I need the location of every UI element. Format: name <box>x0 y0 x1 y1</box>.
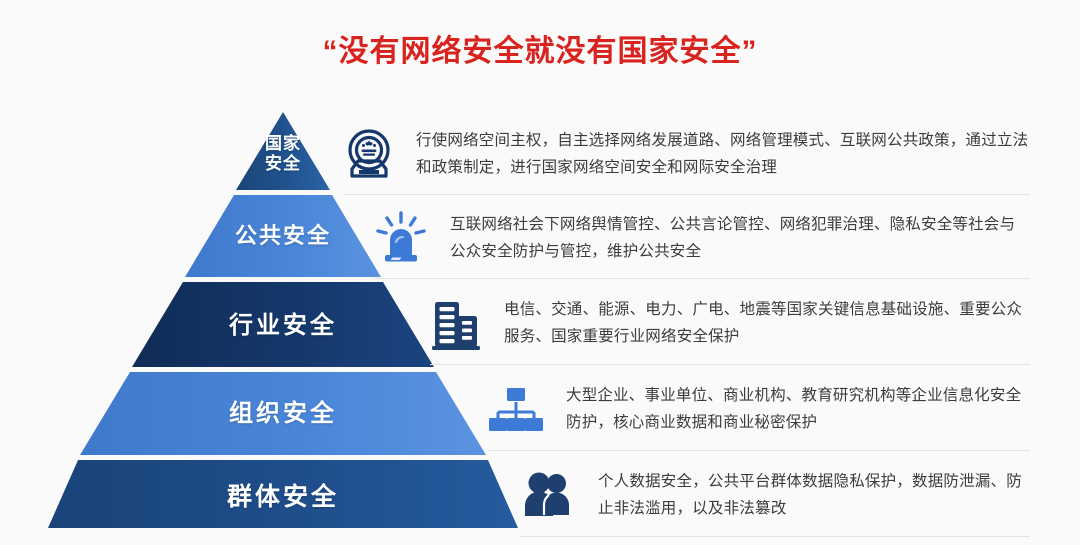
office-buildings-icon <box>430 296 482 352</box>
description-row-industry-security: 电信、交通、能源、电力、广电、地震等国家关键信息基础设施、重要公众服务、国家重要… <box>430 284 1030 364</box>
row-separator <box>488 450 1030 451</box>
description-row-public-security: 互联网络社会下网络舆情管控、公共言论管控、网络犯罪治理、隐私安全等社会与公众安全… <box>374 200 1030 278</box>
national-emblem-icon <box>344 128 394 182</box>
description-text-industry-security: 电信、交通、能源、电力、广电、地震等国家关键信息基础设施、重要公众服务、国家重要… <box>504 297 1030 350</box>
page-title: “没有网络安全就没有国家安全” <box>0 26 1080 70</box>
description-text-national-security: 行使网络空间主权，自主选择网络发展道路、网络管理模式、互联网公共政策，通过立法和… <box>416 128 1030 181</box>
description-row-national-security: 行使网络空间主权，自主选择网络发展道路、网络管理模式、互联网公共政策，通过立法和… <box>344 116 1030 194</box>
description-row-organization-security: 大型企业、事业单位、商业机构、教育研究机构等企业信息化安全防护，核心商业数据和商… <box>488 370 1030 450</box>
row-separator <box>520 536 1030 537</box>
row-separator <box>344 194 1030 195</box>
description-row-group-security: 个人数据安全，公共平台群体数据隐私保护，数据防泄漏、防止非法滥用，以及非法篡改 <box>520 456 1030 536</box>
infographic-canvas: “没有网络安全就没有国家安全” <box>0 0 1080 545</box>
alarm-siren-icon <box>374 211 428 267</box>
row-separator <box>430 364 1030 365</box>
description-rows: 行使网络空间主权，自主选择网络发展道路、网络管理模式、互联网公共政策，通过立法和… <box>330 112 1030 532</box>
org-chart-icon <box>488 385 544 435</box>
description-text-organization-security: 大型企业、事业单位、商业机构、教育研究机构等企业信息化安全防护，核心商业数据和商… <box>566 383 1030 436</box>
pyramid-tier-1 <box>236 112 330 190</box>
description-text-group-security: 个人数据安全，公共平台群体数据隐私保护，数据防泄漏、防止非法滥用，以及非法篡改 <box>598 469 1030 522</box>
people-group-icon <box>520 472 576 520</box>
description-text-public-security: 互联网络社会下网络舆情管控、公共言论管控、网络犯罪治理、隐私安全等社会与公众安全… <box>450 212 1030 265</box>
row-separator <box>374 278 1030 279</box>
